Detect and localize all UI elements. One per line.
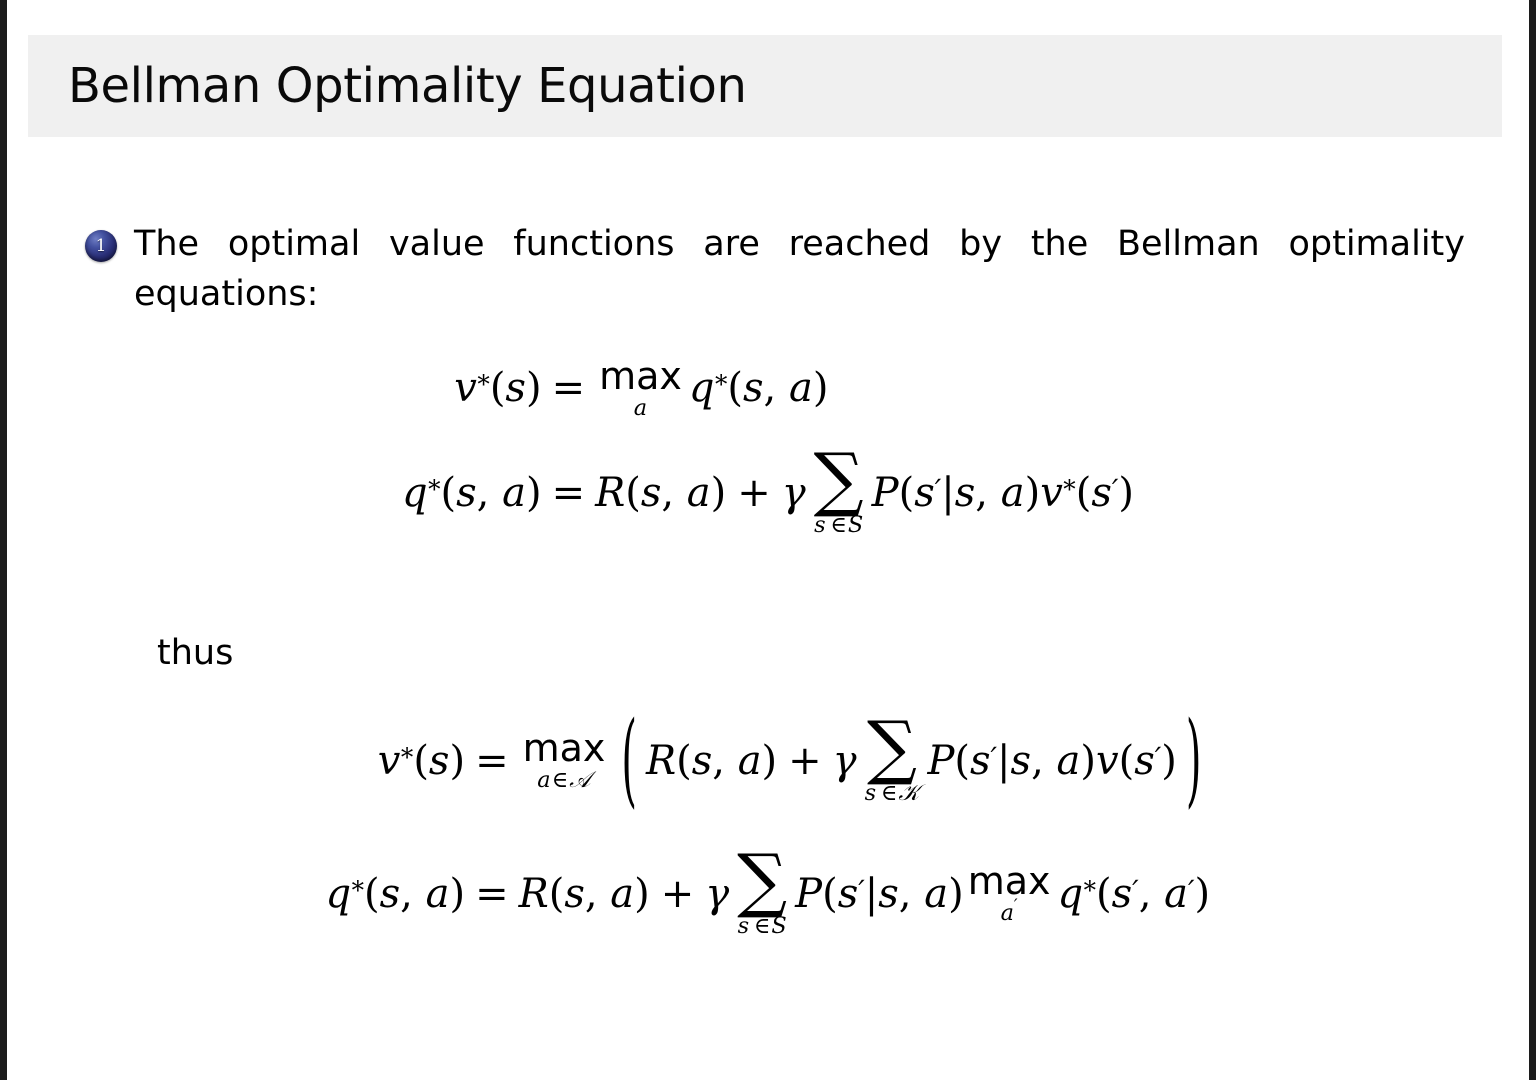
paren-close: ) — [526, 368, 542, 408]
symbol-R: R — [646, 741, 676, 781]
symbol-gamma: γ — [782, 473, 806, 513]
symbol-R: R — [595, 473, 625, 513]
paren-close: ) — [711, 473, 727, 513]
plus-sign: + — [788, 741, 822, 781]
big-paren-close: ) — [1186, 710, 1202, 812]
paren-close: ) — [948, 874, 964, 914]
symbol-a: a — [1164, 874, 1188, 914]
sub-symbol-a: a — [1001, 900, 1014, 926]
max-operator: maxa′ — [968, 862, 1051, 924]
enumerate-marker-1: 1 — [85, 230, 117, 262]
symbol-s: s — [1112, 874, 1133, 914]
symbol-v: v — [1096, 741, 1119, 781]
comma: , — [1031, 741, 1044, 781]
equation-2-rhs: =R(s, a)+γ∑s′∈SP(s′|s, a)v*(s′) — [542, 449, 1134, 536]
set-A-calligraphic: 𝒜 — [569, 767, 590, 793]
symbol-v: v — [378, 741, 401, 781]
element-of-sign: ∈ — [754, 913, 771, 939]
prime-mark: ′ — [826, 507, 830, 526]
paren-open: ( — [441, 473, 457, 513]
summation-subscript: s′∈S — [814, 514, 863, 536]
max-label: max — [523, 729, 606, 767]
sub-symbol-s: s — [865, 780, 877, 806]
comma: , — [585, 874, 598, 914]
symbol-a: a — [426, 874, 450, 914]
paren-open: ( — [1096, 874, 1112, 914]
symbol-q: q — [689, 368, 715, 408]
element-of-sign: ∈ — [552, 767, 569, 793]
align-environment-1: v*(s) =maxaq*(s, a) q*(s, a) =R(s, a)+γ∑… — [402, 357, 1134, 536]
paren-open: ( — [1119, 741, 1135, 781]
summation-operator: ∑s′∈𝒦 — [865, 717, 920, 804]
paren-close: ) — [762, 741, 778, 781]
paren-open: ( — [727, 368, 743, 408]
sigma-glyph: ∑ — [867, 717, 917, 779]
paren-open: ( — [822, 874, 838, 914]
paren-open: ( — [549, 874, 565, 914]
symbol-s: s — [970, 741, 991, 781]
comma: , — [899, 874, 912, 914]
paren-close: ) — [1025, 473, 1041, 513]
symbol-v: v — [454, 368, 477, 408]
symbol-s: s — [914, 473, 935, 513]
summation-operator: ∑s′∈S — [737, 850, 787, 937]
paren-open: ( — [676, 741, 692, 781]
prime-mark: ′ — [749, 908, 753, 927]
symbol-s: s — [955, 473, 976, 513]
symbol-s: s — [641, 473, 662, 513]
list-item: 1 The optimal value functions are reache… — [85, 220, 1465, 319]
symbol-s: s — [429, 741, 450, 781]
symbol-a: a — [610, 874, 634, 914]
paren-close: ) — [1161, 741, 1177, 781]
symbol-s: s — [380, 874, 401, 914]
max-operator: maxa∈𝒜 — [523, 729, 606, 791]
max-label: max — [968, 862, 1051, 900]
equation-block-2: v*(s) =maxa∈𝒜(R(s, a)+γ∑s′∈𝒦P(s′|s, a)v(… — [7, 717, 1529, 937]
symbol-v: v — [1040, 473, 1063, 513]
comma: , — [712, 741, 725, 781]
symbol-s: s — [1091, 473, 1112, 513]
symbol-s: s — [838, 874, 859, 914]
symbol-a: a — [502, 473, 526, 513]
slide-canvas: Bellman Optimality Equation 1 The optima… — [7, 0, 1529, 1080]
equals-sign: = — [552, 473, 586, 513]
max-label: max — [599, 357, 682, 395]
symbol-P: P — [927, 741, 954, 781]
set-S: S — [771, 913, 786, 939]
paren-open: ( — [625, 473, 641, 513]
symbol-s: s — [456, 473, 477, 513]
symbol-s: s — [743, 368, 764, 408]
comma: , — [400, 874, 413, 914]
paren-close: ) — [813, 368, 829, 408]
equals-sign: = — [475, 874, 509, 914]
equation-2-lhs: q*(s, a) — [402, 473, 542, 513]
paren-close: ) — [634, 874, 650, 914]
bullet-text: The optimal value functions are reached … — [134, 220, 1465, 319]
symbol-gamma: γ — [705, 874, 729, 914]
comma: , — [477, 473, 490, 513]
equation-block-1: v*(s) =maxaq*(s, a) q*(s, a) =R(s, a)+γ∑… — [7, 357, 1529, 536]
plus-sign: + — [661, 874, 695, 914]
max-subscript: a — [634, 397, 647, 419]
symbol-gamma: γ — [833, 741, 857, 781]
paren-close: ) — [1195, 874, 1211, 914]
sub-symbol-s: s — [738, 913, 750, 939]
symbol-a: a — [924, 874, 948, 914]
max-subscript: a∈𝒜 — [537, 769, 590, 791]
equation-4-lhs: q*(s, a) — [326, 874, 466, 914]
symbol-a: a — [1001, 473, 1025, 513]
symbol-q: q — [1057, 874, 1083, 914]
summation-operator: ∑s′∈S — [814, 449, 864, 536]
summation-subscript: s′∈S — [738, 915, 787, 937]
equals-sign: = — [475, 741, 509, 781]
slide-body: 1 The optimal value functions are reache… — [7, 137, 1529, 1080]
paren-close: ) — [449, 741, 465, 781]
page-title: Bellman Optimality Equation — [68, 58, 747, 114]
conditional-bar: | — [997, 741, 1010, 781]
paren-close: ) — [526, 473, 542, 513]
paren-open: ( — [364, 874, 380, 914]
sigma-glyph: ∑ — [814, 449, 864, 511]
conditional-bar: | — [865, 874, 878, 914]
paren-open: ( — [954, 741, 970, 781]
prime-mark: ′ — [876, 775, 880, 794]
equation-1-rhs: =maxaq*(s, a) — [542, 357, 829, 419]
comma: , — [975, 473, 988, 513]
prime-mark: ′ — [1014, 895, 1018, 914]
symbol-s: s — [692, 741, 713, 781]
symbol-a: a — [789, 368, 813, 408]
symbol-s: s — [564, 874, 585, 914]
equals-sign: = — [552, 368, 586, 408]
element-of-sign: ∈ — [830, 512, 847, 538]
symbol-a: a — [1057, 741, 1081, 781]
paren-open: ( — [490, 368, 506, 408]
element-of-sign: ∈ — [881, 780, 898, 806]
max-operator: maxa — [599, 357, 682, 419]
symbol-a: a — [738, 741, 762, 781]
symbol-s: s — [1011, 741, 1032, 781]
paren-close: ) — [1118, 473, 1134, 513]
paren-open: ( — [413, 741, 429, 781]
align-environment-2: v*(s) =maxa∈𝒜(R(s, a)+γ∑s′∈𝒦P(s′|s, a)v(… — [326, 717, 1211, 937]
summation-subscript: s′∈𝒦 — [865, 782, 920, 804]
symbol-a: a — [687, 473, 711, 513]
symbol-P: P — [872, 473, 899, 513]
set-S: S — [848, 512, 863, 538]
symbol-R: R — [519, 874, 549, 914]
symbol-s: s — [878, 874, 899, 914]
equation-1-lhs: v*(s) — [454, 368, 541, 408]
comma: , — [764, 368, 777, 408]
page-border-left — [0, 0, 7, 1080]
sub-symbol-a: a — [537, 767, 550, 793]
set-S-calligraphic: 𝒦 — [898, 780, 919, 806]
paren-close: ) — [449, 874, 465, 914]
symbol-q: q — [402, 473, 428, 513]
paren-close: ) — [1080, 741, 1096, 781]
symbol-P: P — [795, 874, 822, 914]
comma: , — [661, 473, 674, 513]
paren-open: ( — [1076, 473, 1092, 513]
title-banner: Bellman Optimality Equation — [28, 35, 1502, 137]
max-subscript: a′ — [1001, 902, 1018, 924]
plus-sign: + — [737, 473, 771, 513]
sigma-glyph: ∑ — [737, 850, 787, 912]
symbol-q: q — [326, 874, 352, 914]
comma: , — [1139, 874, 1152, 914]
page-border-right — [1529, 0, 1536, 1080]
big-paren-open: ( — [621, 710, 637, 812]
symbol-s: s — [505, 368, 526, 408]
equation-3-lhs: v*(s) — [378, 741, 465, 781]
sub-symbol-s: s — [814, 512, 826, 538]
equation-3-rhs: =maxa∈𝒜(R(s, a)+γ∑s′∈𝒦P(s′|s, a)v(s′)) — [465, 717, 1210, 804]
symbol-s: s — [1134, 741, 1155, 781]
conditional-bar: | — [941, 473, 954, 513]
equation-4-rhs: =R(s, a)+γ∑s′∈SP(s′|s, a)maxa′q*(s′, a′) — [465, 850, 1210, 937]
paren-open: ( — [899, 473, 915, 513]
connector-text: thus — [157, 633, 233, 673]
